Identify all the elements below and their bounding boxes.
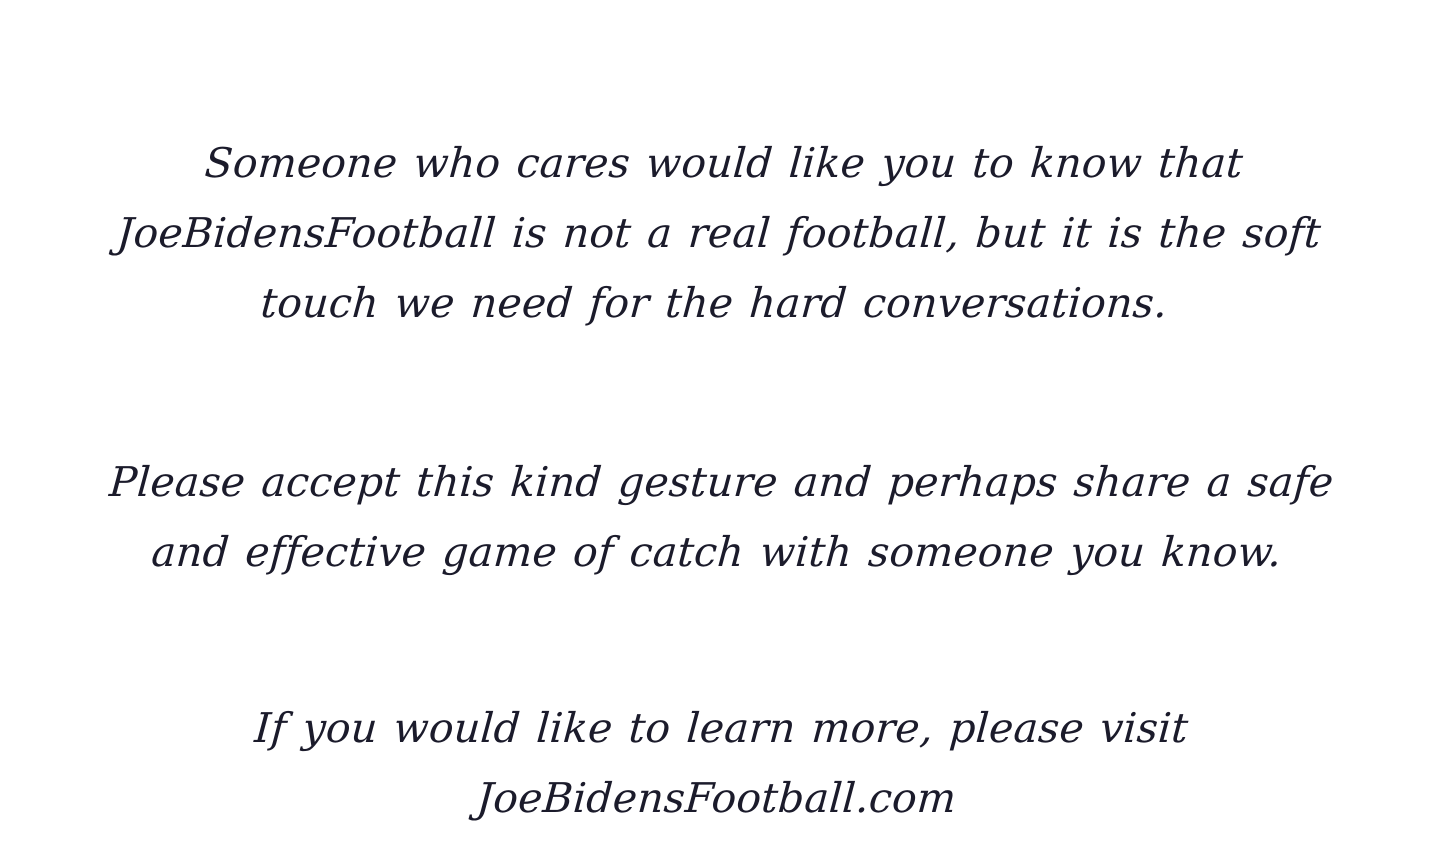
- paragraph-invitation: Please accept this kind gesture and perh…: [73, 447, 1365, 587]
- message-block: Someone who cares would like you to know…: [78, 128, 1360, 833]
- paragraph-learn-more: If you would like to learn more, please …: [73, 693, 1365, 833]
- paragraph-disclosure: Someone who cares would like you to know…: [71, 128, 1368, 338]
- document-page: Someone who cares would like you to know…: [0, 0, 1445, 846]
